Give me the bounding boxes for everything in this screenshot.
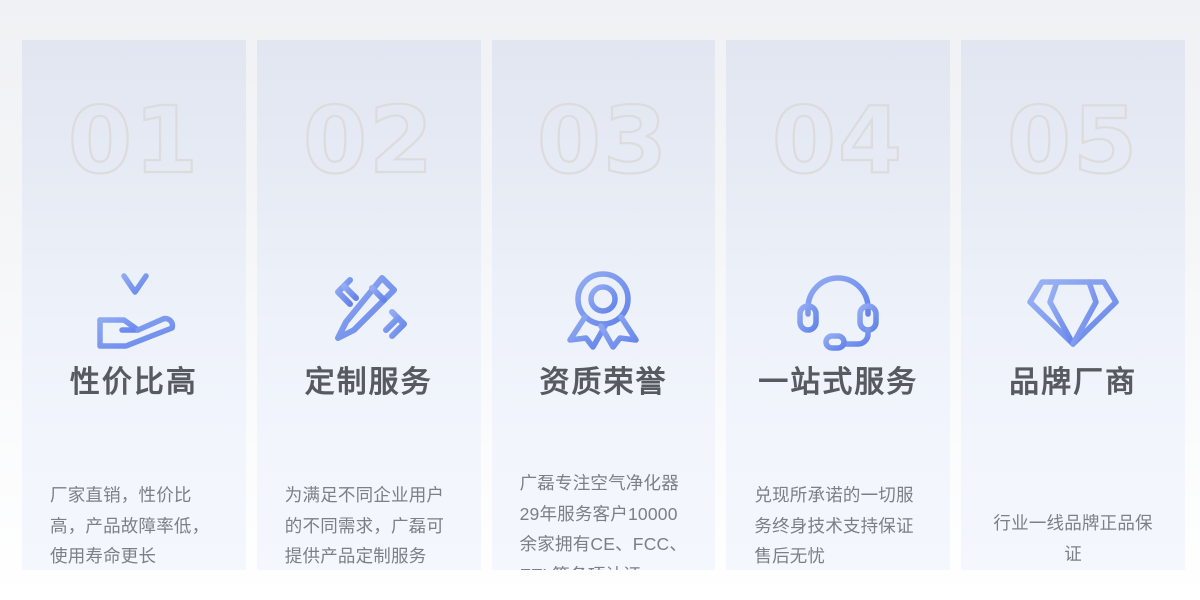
award-ribbon-icon	[492, 264, 716, 356]
pen-customization-icon	[257, 264, 481, 356]
card-title-5: 品牌厂商	[961, 365, 1185, 401]
feature-card-4[interactable]: 04	[726, 40, 950, 570]
card-description-4: 兑现所承诺的一切服务终身技术支持保证售后无忧	[754, 480, 922, 570]
card-description-1: 厂家直销，性价比高，产品故障率低，使用寿命更长	[50, 480, 218, 570]
headset-icon	[726, 264, 950, 356]
card-title-1: 性价比高	[22, 365, 246, 401]
card-number-badge-4: 04	[726, 90, 950, 190]
feature-cards-row: 01	[22, 40, 1185, 570]
feature-card-3[interactable]: 03	[492, 40, 716, 570]
card-number-text-2: 02	[303, 90, 435, 190]
feature-cards-section: 01	[0, 0, 1200, 600]
card-number-badge-1: 01	[22, 90, 246, 190]
card-title-4: 一站式服务	[726, 365, 950, 401]
card-description-5: 行业一线品牌正品保证	[989, 508, 1157, 569]
card-number-badge-2: 02	[257, 90, 481, 190]
card-number-badge-5: 05	[961, 90, 1185, 190]
card-number-text-4: 04	[772, 90, 904, 190]
card-number-badge-3: 03	[492, 90, 716, 190]
card-number-text-3: 03	[537, 90, 669, 190]
card-title-2: 定制服务	[257, 365, 481, 401]
feature-card-2[interactable]: 02	[257, 40, 481, 570]
diamond-icon	[961, 264, 1185, 356]
card-number-text-5: 05	[1007, 90, 1139, 190]
card-description-2: 为满足不同企业用户的不同需求，广磊可提供产品定制服务	[285, 480, 453, 570]
money-hand-icon	[22, 264, 246, 356]
card-description-3: 广磊专注空气净化器29年服务客户10000余家拥有CE、FCC、ETL等各项认证	[520, 468, 688, 570]
feature-card-1[interactable]: 01	[22, 40, 246, 570]
card-number-text-1: 01	[68, 90, 200, 190]
card-title-3: 资质荣誉	[492, 365, 716, 401]
feature-card-5[interactable]: 05	[961, 40, 1185, 570]
